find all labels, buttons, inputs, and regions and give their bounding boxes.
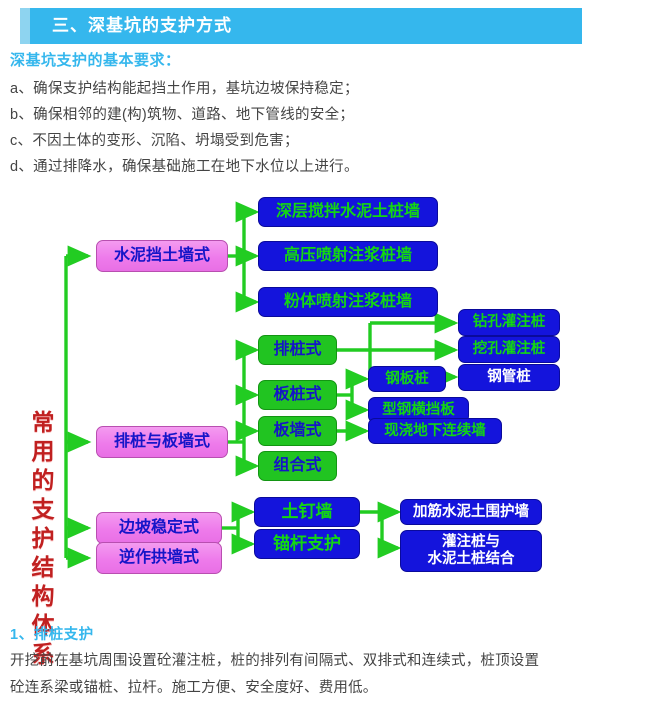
node-label: 逆作拱墙式 xyxy=(119,549,199,567)
root-title-c1: 用 xyxy=(26,437,60,466)
node-label: 高压喷射注浆桩墙 xyxy=(284,247,412,265)
node-row-pile-type[interactable]: 排桩式 xyxy=(258,335,337,365)
node-label: 钢板桩 xyxy=(385,371,429,387)
footer-block: 1、排桩支护 开挖前在基坑周围设置砼灌注桩，桩的排列有间隔式、双排式和连续式，桩… xyxy=(10,622,640,702)
footer-line-2: 砼连系梁或锚桩、拉杆。施工方便、安全度好、费用低。 xyxy=(10,675,640,702)
root-title-c2: 的 xyxy=(26,466,60,495)
node-deep-mixing-cement-pile-wall[interactable]: 深层搅拌水泥土桩墙 xyxy=(258,197,438,227)
node-label: 排桩式 xyxy=(273,341,321,359)
root-title-c4: 护 xyxy=(26,524,60,553)
node-reinforced-cement-soil-retaining-wall[interactable]: 加筋水泥土围护墙 xyxy=(400,499,542,525)
node-high-pressure-jet-grouting-pile-wall[interactable]: 高压喷射注浆桩墙 xyxy=(258,241,438,271)
root-title-c3: 支 xyxy=(26,495,60,524)
node-cast-pile-with-cement-soil-pile[interactable]: 灌注桩与 水泥土桩结合 xyxy=(400,530,542,572)
header-accent-bar xyxy=(20,8,30,44)
support-structure-diagram: 常 用 的 支 护 结 构 体 系 水泥挡土墙式 排桩与板墙式 边坡稳定式 逆作… xyxy=(0,190,653,595)
node-combined-type[interactable]: 组合式 xyxy=(258,451,337,481)
root-title-c5: 结 xyxy=(26,553,60,582)
intro-line-d: d、通过排降水，确保基础施工在地下水位以上进行。 xyxy=(10,154,630,180)
node-label: 深层搅拌水泥土桩墙 xyxy=(276,203,420,221)
node-steel-pipe-pile[interactable]: 钢管桩 xyxy=(458,364,560,391)
node-soil-nail-wall[interactable]: 土钉墙 xyxy=(254,497,360,527)
node-label: 挖孔灌注桩 xyxy=(473,341,546,357)
node-label-line1: 灌注桩与 xyxy=(442,534,500,551)
node-steel-sheet-pile[interactable]: 钢板桩 xyxy=(368,366,446,392)
page-title: 三、深基坑的支护方式 xyxy=(30,8,232,44)
node-label: 现浇地下连续墙 xyxy=(384,423,486,439)
root-title-c0: 常 xyxy=(26,408,60,437)
node-plank-wall-type[interactable]: 板墙式 xyxy=(258,416,337,446)
node-label: 水泥挡土墙式 xyxy=(114,247,210,265)
node-reverse-arch-wall[interactable]: 逆作拱墙式 xyxy=(96,542,222,574)
footer-heading: 1、排桩支护 xyxy=(10,622,640,648)
intro-block: 深基坑支护的基本要求： a、确保支护结构能起挡土作用，基坑边坡保持稳定； b、确… xyxy=(10,48,630,180)
header-bar: 三、深基坑的支护方式 xyxy=(30,8,582,44)
node-label: 钻孔灌注桩 xyxy=(473,314,546,330)
node-cast-in-place-diaphragm-wall[interactable]: 现浇地下连续墙 xyxy=(368,418,502,444)
node-pile-and-plank-wall[interactable]: 排桩与板墙式 xyxy=(96,426,228,458)
footer-line-1: 开挖前在基坑周围设置砼灌注桩，桩的排列有间隔式、双排式和连续式，桩顶设置 xyxy=(10,648,640,675)
node-label: 钢管桩 xyxy=(487,369,531,385)
node-dug-cast-in-place-pile[interactable]: 挖孔灌注桩 xyxy=(458,336,560,363)
node-powder-jet-grouting-pile-wall[interactable]: 粉体喷射注浆桩墙 xyxy=(258,287,438,317)
section-header: 三、深基坑的支护方式 xyxy=(20,8,582,44)
node-label: 加筋水泥土围护墙 xyxy=(413,504,529,520)
intro-line-a: a、确保支护结构能起挡土作用，基坑边坡保持稳定； xyxy=(10,76,630,102)
intro-line-b: b、确保相邻的建(构)筑物、道路、地下管线的安全； xyxy=(10,102,630,128)
root-title-c6: 构 xyxy=(26,582,60,611)
node-label: 型钢横挡板 xyxy=(382,402,455,418)
node-anchor-support[interactable]: 锚杆支护 xyxy=(254,529,360,559)
node-cement-retaining-wall[interactable]: 水泥挡土墙式 xyxy=(96,240,228,272)
intro-heading: 深基坑支护的基本要求： xyxy=(10,48,630,74)
node-label: 粉体喷射注浆桩墙 xyxy=(284,293,412,311)
node-label: 板桩式 xyxy=(273,386,321,404)
node-label: 锚杆支护 xyxy=(273,534,341,553)
node-sheet-pile-type[interactable]: 板桩式 xyxy=(258,380,337,410)
node-label: 边坡稳定式 xyxy=(119,519,199,537)
node-label: 土钉墙 xyxy=(282,502,333,521)
node-label-line2: 水泥土桩结合 xyxy=(428,551,515,568)
node-label: 板墙式 xyxy=(273,422,321,440)
intro-line-c: c、不因土体的变形、沉陷、坍塌受到危害； xyxy=(10,128,630,154)
node-slope-stability[interactable]: 边坡稳定式 xyxy=(96,512,222,544)
node-bored-cast-in-place-pile[interactable]: 钻孔灌注桩 xyxy=(458,309,560,336)
node-label: 排桩与板墙式 xyxy=(114,433,210,451)
node-label: 组合式 xyxy=(273,457,321,475)
